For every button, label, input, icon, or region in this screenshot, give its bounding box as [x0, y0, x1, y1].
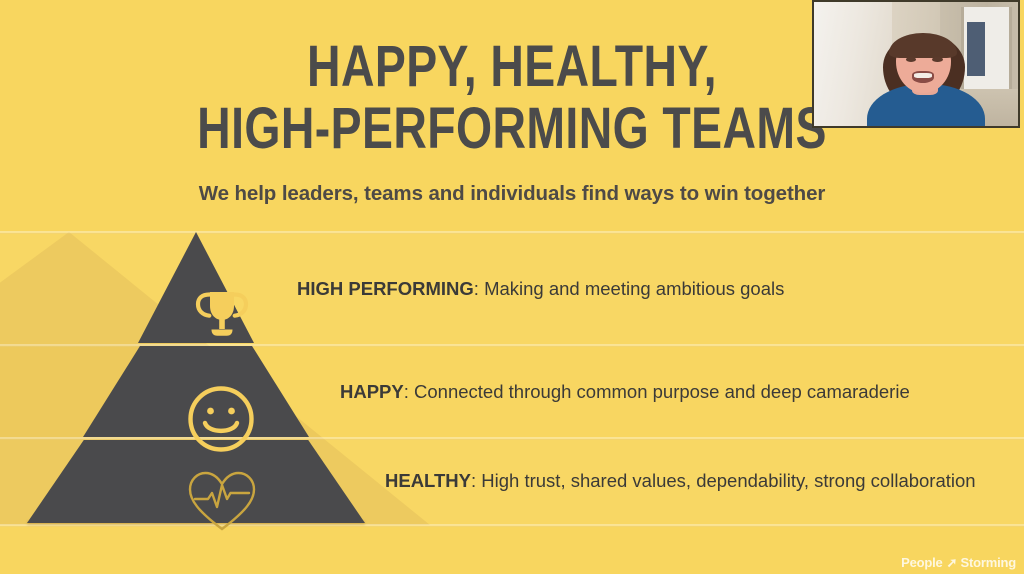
presenter-eye-left [906, 57, 916, 62]
tier-text-healthy: High trust, shared values, dependability… [481, 470, 975, 491]
heartbeat-heart-icon [186, 469, 258, 535]
tier-separator-high-performing: : [474, 278, 484, 299]
brand-logo-word-one: People [901, 555, 942, 570]
tier-text-high-performing: Making and meeting ambitious goals [484, 278, 784, 299]
three-tier-pyramid [26, 231, 366, 524]
slide-subtitle: We help leaders, teams and individuals f… [0, 182, 1024, 206]
tier-separator-happy: : [404, 381, 414, 402]
presenter-video-feed[interactable] [812, 0, 1020, 128]
trophy-icon [193, 289, 251, 341]
tier-label-high-performing: HIGH PERFORMING [297, 278, 474, 299]
brand-logo-word-two: Storming [961, 555, 1016, 570]
tier-separator-healthy: : [471, 470, 481, 491]
video-scene [814, 2, 1018, 126]
tier-description-high-performing: HIGH PERFORMING: Making and meeting ambi… [297, 278, 784, 300]
tier-description-healthy: HEALTHY: High trust, shared values, depe… [385, 470, 976, 492]
lightning-bolt-icon: ➚ [947, 556, 957, 569]
tier-description-happy: HAPPY: Connected through common purpose … [340, 381, 910, 403]
tier-text-happy: Connected through common purpose and dee… [414, 381, 910, 402]
presenter-teeth [914, 73, 932, 78]
presenter-eye-right [932, 57, 942, 62]
background-door-opening [967, 22, 985, 77]
smiley-face-icon [185, 383, 257, 455]
brand-logo: People ➚ Storming [901, 555, 1016, 570]
presentation-slide: HAPPY, HEALTHY, HIGH-PERFORMING TEAMS We… [0, 0, 1024, 574]
tier-label-happy: HAPPY [340, 381, 404, 402]
tier-label-healthy: HEALTHY [385, 470, 471, 491]
